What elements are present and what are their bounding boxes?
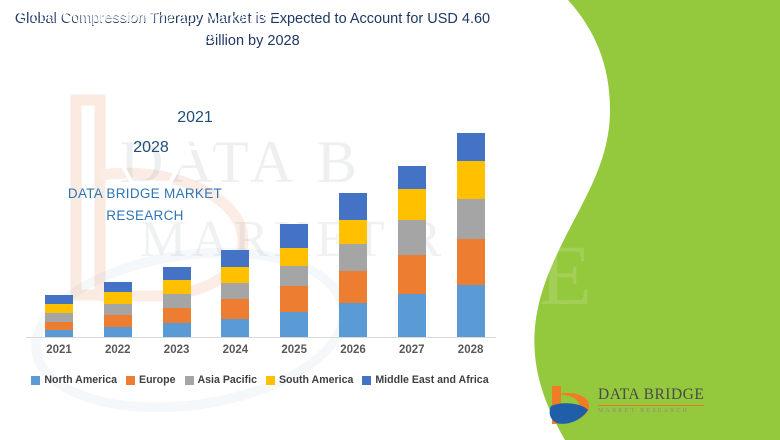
databridge-logo: DATA BRIDGE MARKET RESEARCH (548, 382, 728, 428)
x-axis-label-2024: 2024 (205, 344, 265, 356)
logo-name-bottom: MARKET RESEARCH (598, 408, 704, 414)
logo-name-top: DATA BRIDGE (598, 386, 704, 406)
panel-brand-line2: RESEARCH (0, 205, 290, 227)
bar-segment-2027-middle-east-and-africa[interactable] (398, 166, 426, 189)
bar-segment-2027-south-america[interactable] (398, 189, 426, 221)
infographic-root: DATA B MARKET R Global Compression Thera… (0, 0, 780, 440)
bar-segment-2024-south-america[interactable] (221, 267, 249, 282)
panel-brand-line1: DATA BRIDGE MARKET (0, 183, 290, 205)
x-axis-label-2027: 2027 (382, 344, 442, 356)
bar-segment-2022-asia-pacific[interactable] (104, 304, 132, 315)
legend-item-north-america[interactable]: North America (31, 374, 117, 386)
legend-item-middle-east-and-africa[interactable]: Middle East and Africa (362, 374, 488, 386)
databridge-b-logo-icon (548, 384, 592, 426)
bar-segment-2023-south-america[interactable] (163, 280, 191, 294)
hexagon-label-2028: 2028 (133, 139, 169, 157)
bar-segment-2024-europe[interactable] (221, 299, 249, 319)
green-side-panel: BRI RE (490, 0, 780, 440)
bar-segment-2025-europe[interactable] (280, 286, 308, 311)
bar-2027[interactable] (398, 166, 426, 337)
bar-segment-2028-north-america[interactable] (457, 285, 485, 337)
legend-item-europe[interactable]: Europe (126, 374, 176, 386)
bar-segment-2026-middle-east-and-africa[interactable] (339, 193, 367, 220)
bar-segment-2023-north-america[interactable] (163, 323, 191, 337)
bar-segment-2026-europe[interactable] (339, 271, 367, 303)
bar-segment-2028-europe[interactable] (457, 239, 485, 284)
bar-segment-2027-europe[interactable] (398, 255, 426, 294)
bar-segment-2024-north-america[interactable] (221, 319, 249, 337)
legend-label: Middle East and Africa (375, 374, 488, 386)
hexagon-badges: 2028 2021 (0, 85, 290, 190)
bar-segment-2025-south-america[interactable] (280, 248, 308, 266)
bar-segment-2022-middle-east-and-africa[interactable] (104, 282, 132, 292)
legend-label: North America (44, 374, 117, 386)
legend-swatch-icon (362, 376, 371, 385)
bar-segment-2021-asia-pacific[interactable] (45, 313, 73, 321)
bar-segment-2021-middle-east-and-africa[interactable] (45, 295, 73, 305)
legend-swatch-icon (266, 376, 275, 385)
bar-segment-2024-asia-pacific[interactable] (221, 283, 249, 299)
legend-item-asia-pacific[interactable]: Asia Pacific (185, 374, 257, 386)
bar-segment-2023-middle-east-and-africa[interactable] (163, 267, 191, 280)
bar-2025[interactable] (280, 224, 308, 337)
panel-brand: DATA BRIDGE MARKET RESEARCH (0, 183, 290, 227)
bar-2026[interactable] (339, 193, 367, 337)
bar-2022[interactable] (104, 282, 132, 337)
bar-segment-2022-south-america[interactable] (104, 292, 132, 305)
bar-segment-2021-europe[interactable] (45, 322, 73, 330)
bar-segment-2023-europe[interactable] (163, 308, 191, 323)
legend-swatch-icon (126, 376, 135, 385)
bar-segment-2022-north-america[interactable] (104, 327, 132, 337)
bar-segment-2021-north-america[interactable] (45, 330, 73, 337)
bar-segment-2026-asia-pacific[interactable] (339, 244, 367, 271)
bar-segment-2025-middle-east-and-africa[interactable] (280, 224, 308, 248)
bar-segment-2026-north-america[interactable] (339, 303, 367, 337)
legend-label: Europe (139, 374, 176, 386)
bar-segment-2021-south-america[interactable] (45, 304, 73, 313)
x-axis-label-2028: 2028 (441, 344, 501, 356)
bar-segment-2025-north-america[interactable] (280, 312, 308, 337)
bar-segment-2028-middle-east-and-africa[interactable] (457, 133, 485, 161)
x-axis-line (26, 337, 496, 338)
bar-2024[interactable] (221, 250, 249, 337)
bar-segment-2025-asia-pacific[interactable] (280, 266, 308, 287)
bar-segment-2027-asia-pacific[interactable] (398, 220, 426, 254)
bar-segment-2027-north-america[interactable] (398, 294, 426, 337)
bar-2028[interactable] (457, 133, 485, 337)
legend-label: Asia Pacific (198, 374, 257, 386)
bar-2021[interactable] (45, 295, 73, 337)
panel-title: Global Compression Therapy Market, By Re… (0, 8, 290, 48)
bar-segment-2026-south-america[interactable] (339, 220, 367, 244)
hexagon-badge-2021: 2021 (160, 85, 230, 151)
x-axis-label-2022: 2022 (88, 344, 148, 356)
bar-segment-2022-europe[interactable] (104, 315, 132, 327)
legend-swatch-icon (31, 376, 40, 385)
bar-segment-2024-middle-east-and-africa[interactable] (221, 250, 249, 267)
legend-label: South America (279, 374, 353, 386)
databridge-logo-text: DATA BRIDGE MARKET RESEARCH (598, 386, 704, 414)
hexagon-label-2021: 2021 (177, 109, 213, 127)
x-axis-label-2025: 2025 (264, 344, 324, 356)
x-axis-label-2026: 2026 (323, 344, 383, 356)
legend-swatch-icon (185, 376, 194, 385)
bar-segment-2028-asia-pacific[interactable] (457, 199, 485, 240)
x-axis-label-2023: 2023 (147, 344, 207, 356)
x-axis-label-2021: 2021 (29, 344, 89, 356)
bar-segment-2028-south-america[interactable] (457, 161, 485, 199)
chart-legend: North AmericaEuropeAsia PacificSouth Ame… (0, 374, 520, 386)
bar-segment-2023-asia-pacific[interactable] (163, 294, 191, 308)
legend-item-south-america[interactable]: South America (266, 374, 353, 386)
bar-2023[interactable] (163, 267, 191, 337)
